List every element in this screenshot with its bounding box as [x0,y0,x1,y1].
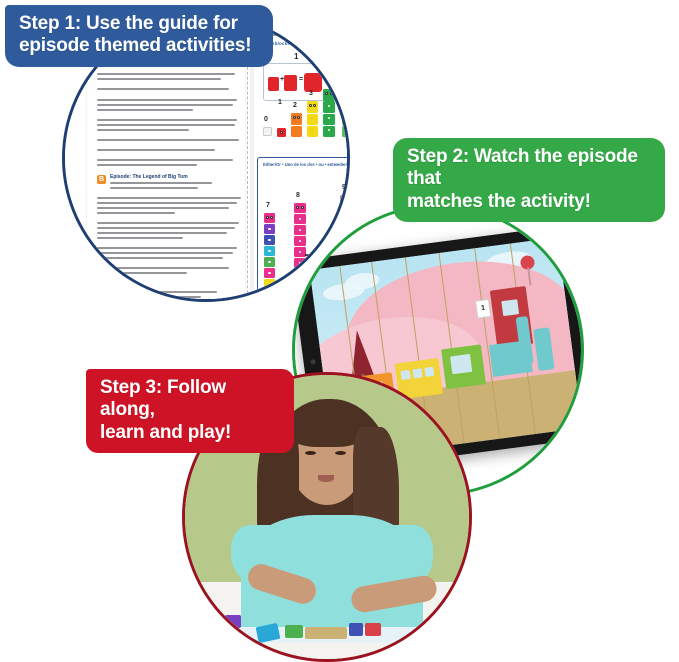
step-2-banner-line-2: matches the activity! [407,191,651,213]
equation-cube-c [304,73,322,92]
equation-cube-a [268,77,279,91]
cube-green [285,625,303,638]
step-1-banner-line-2: episode themed activities! [19,35,259,57]
worksheet-text-line [97,212,175,214]
worksheet-text-line [97,237,183,239]
step-1-banner-line-1: Step 1: Use the guide for [19,13,259,35]
episode-title-1: Episode: The Legend of Big Tum [110,174,188,180]
worksheet-text-line [97,104,233,106]
tower-window [501,299,519,316]
either-or-label: Either/Or • Uno de los dos • ou • entwed… [263,162,350,167]
worksheet-text-line [97,139,239,141]
worksheet-text-line [97,291,217,293]
step-3-banner-line-2: learn and play! [100,422,280,444]
girl-eye-right [335,451,346,455]
worksheet-text-line [97,232,227,234]
worksheet-text-line [97,109,193,111]
numberblock-0: 0 [263,127,272,136]
numberblock-0-label: 0 [264,116,268,123]
numberblock-4: 4 [323,89,335,137]
tablet-home-button[interactable] [581,314,584,330]
worksheet-text-line [110,182,212,184]
numberblock-5 [342,113,350,137]
worksheet-text-line [97,207,229,209]
episode-chip: B [97,175,106,184]
worksheet-text-line [97,149,215,151]
worksheet-text-line [97,119,237,121]
step-2-banner-line-1: Step 2: Watch the episode that [407,146,651,191]
cube-purple [209,613,223,626]
worksheet-text-line [97,257,223,259]
worksheet-text-line [97,88,229,90]
numberblock-4-label: 4 [325,78,329,85]
worksheet-text-line [110,187,198,189]
worksheet-left-page [87,31,245,302]
step-3-banner: Step 3: Follow along, learn and play! [86,369,294,453]
equation-cube-b [284,75,297,91]
worksheet-text-line [97,296,201,298]
cube-row-tan [305,627,347,639]
infographic-stage: Numberblocks • Cómo construir B Episode:… [0,0,679,643]
page-fold-line [247,27,248,302]
worksheet-text-line [97,202,237,204]
numberblock-1: 1 [277,121,286,137]
worksheet-text-line [97,222,239,224]
worksheet-text-line [97,247,237,249]
episode-title-2: Episode: Blast Off [97,283,140,289]
numberblock-2-label: 2 [293,102,297,109]
girl-eye-left [305,451,316,455]
cube-indigo [349,623,363,636]
girl-mouth [318,475,334,482]
worksheet-text-line [97,99,237,101]
numberblock-1-label: 1 [278,99,282,106]
worksheet-text-line [97,159,233,161]
worksheet-text-line [97,227,235,229]
cube-purple-2 [225,615,241,628]
worksheet-text-line [97,73,235,75]
numberblock-3-label: 3 [309,90,313,97]
worksheet-text-line [97,129,189,131]
carriage-window [450,354,472,374]
step-1-banner: Step 1: Use the guide for episode themed… [5,5,273,67]
worksheet-text-line [97,164,197,166]
equation-result-number: 1 [294,52,298,61]
tablet-camera [310,359,316,365]
numberblock-3: 3 [307,101,318,137]
worksheet-text-line [97,252,233,254]
numberblock-7: 7 [264,213,275,289]
step-2-banner: Step 2: Watch the episode that matches t… [393,138,665,222]
cube-red [365,623,381,636]
page-gutter [250,27,254,302]
numberblock-9-label: 9 [342,184,346,191]
worksheet-text-line [97,124,235,126]
numberblock-7-label: 7 [266,202,270,209]
worksheet-text-line [97,272,187,274]
worksheet-text-line [97,78,221,80]
step-3-banner-line-1: Step 3: Follow along, [100,377,280,422]
tower-sign: 1 [475,299,491,319]
numberblock-8-label: 8 [296,192,300,199]
worksheet-text-line [97,197,241,199]
numberblock-2: 2 [291,113,302,137]
worksheet-text-line [97,267,229,269]
